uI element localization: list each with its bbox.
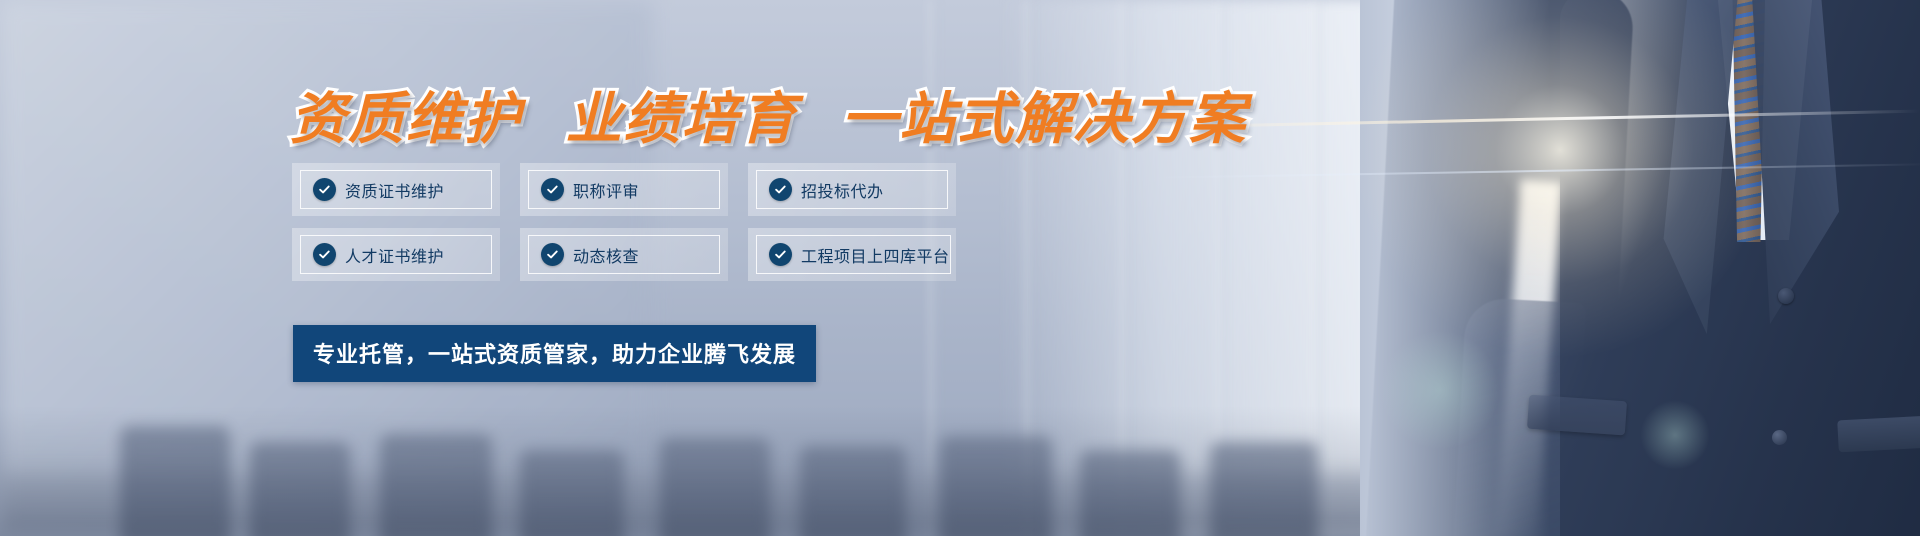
service-card-label: 人才证书维护 xyxy=(345,243,444,267)
check-circle-icon xyxy=(313,243,336,266)
headline: 资质维护 业绩培育 一站式解决方案 xyxy=(290,74,1247,155)
banner-content: 资质维护 业绩培育 一站式解决方案 资质证书维护 职称评审 xyxy=(0,0,1920,536)
service-card-title-review[interactable]: 职称评审 xyxy=(520,163,728,216)
service-card-grid: 资质证书维护 职称评审 招投标代办 xyxy=(292,163,956,281)
service-card-talent-certificate[interactable]: 人才证书维护 xyxy=(292,228,500,281)
service-card-four-databases-platform[interactable]: 工程项目上四库平台 xyxy=(748,228,956,281)
service-card-bidding-agency[interactable]: 招投标代办 xyxy=(748,163,956,216)
promo-banner: 资质维护 业绩培育 一站式解决方案 资质证书维护 职称评审 xyxy=(0,0,1920,536)
service-card-label: 招投标代办 xyxy=(801,178,884,202)
service-card-label: 动态核查 xyxy=(573,243,639,267)
headline-segment-3: 一站式解决方案 xyxy=(841,87,1247,150)
check-circle-icon xyxy=(313,178,336,201)
headline-segment-1: 资质维护 xyxy=(290,87,522,150)
service-card-dynamic-inspection[interactable]: 动态核查 xyxy=(520,228,728,281)
check-circle-icon xyxy=(769,178,792,201)
headline-segment-2: 业绩培育 xyxy=(566,87,798,150)
tagline-banner: 专业托管，一站式资质管家，助力企业腾飞发展 xyxy=(293,325,816,382)
service-card-qualification-certificate[interactable]: 资质证书维护 xyxy=(292,163,500,216)
check-circle-icon xyxy=(541,243,564,266)
check-circle-icon xyxy=(541,178,564,201)
service-card-label: 资质证书维护 xyxy=(345,178,444,202)
check-circle-icon xyxy=(769,243,792,266)
service-card-label: 职称评审 xyxy=(573,178,639,202)
service-card-label: 工程项目上四库平台 xyxy=(801,243,950,267)
